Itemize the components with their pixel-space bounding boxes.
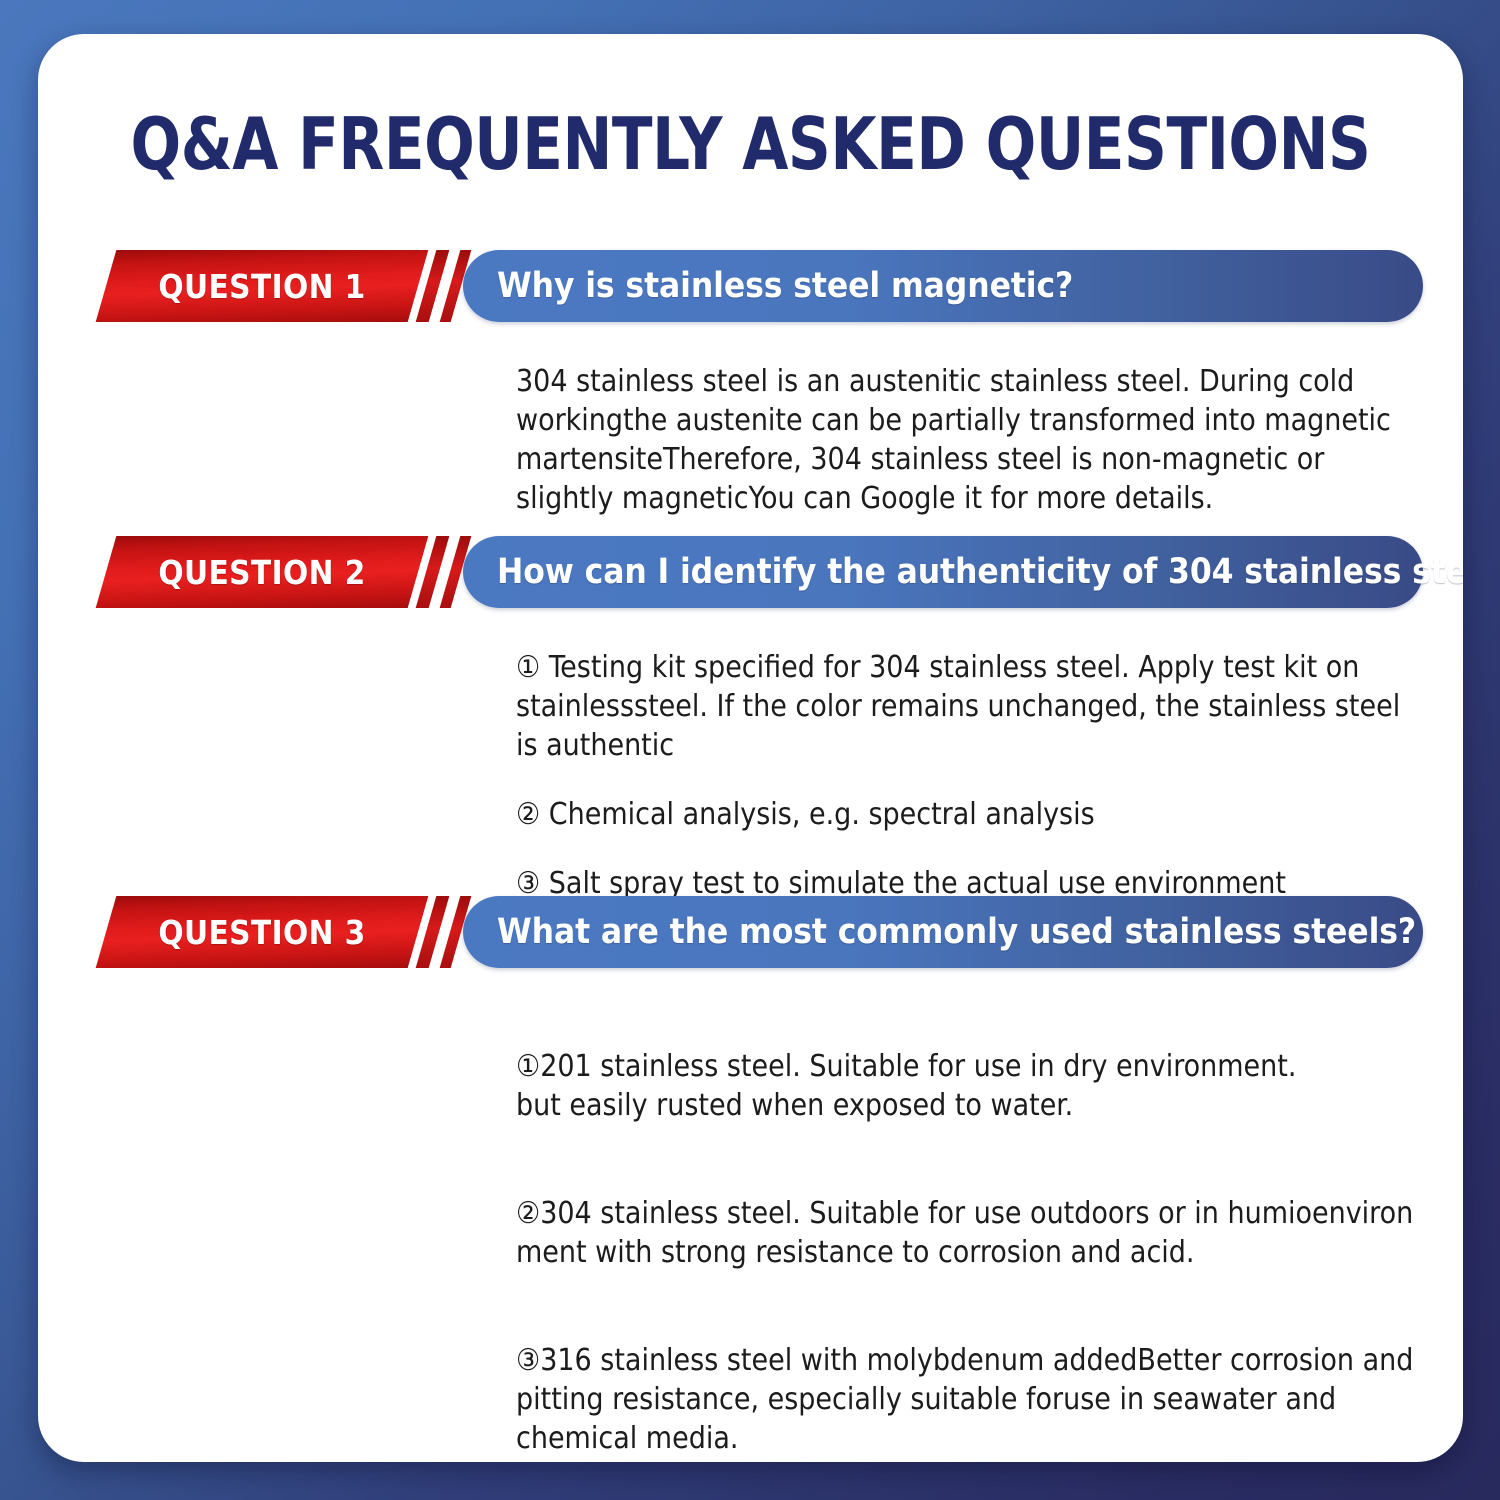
question-header-2: QUESTION 2 How can I identify the authen… [38,536,1463,608]
question-block-1: QUESTION 1 Why is stainless steel magnet… [38,250,1463,322]
question-block-2: QUESTION 2 How can I identify the authen… [38,536,1463,608]
question-heading-pill-1[interactable]: Why is stainless steel magnetic? [463,250,1423,322]
page-background: Q&A FREQUENTLY ASKED QUESTIONS QUESTION … [0,0,1500,1500]
answer-body-3: ①201 stainless steel. Suitable for use i… [516,1008,1426,1462]
faq-card: Q&A FREQUENTLY ASKED QUESTIONS QUESTION … [38,34,1463,1462]
question-heading-text-2: How can I identify the authenticity of 3… [463,552,1463,592]
question-heading-pill-3[interactable]: What are the most commonly used stainles… [463,896,1423,968]
question-tag-label-3: QUESTION 3 [106,896,418,968]
question-block-3: QUESTION 3 What are the most commonly us… [38,896,1463,968]
answer-paragraph: ① Testing kit specified for 304 stainles… [516,648,1426,765]
answer-body-2: ① Testing kit specified for 304 stainles… [516,648,1426,903]
question-tag-label-2: QUESTION 2 [106,536,418,608]
answer-paragraph: ③316 stainless steel with molybdenum add… [516,1341,1426,1458]
question-heading-text-3: What are the most commonly used stainles… [463,912,1450,952]
question-tag-label-1: QUESTION 1 [106,250,418,322]
question-header-3: QUESTION 3 What are the most commonly us… [38,896,1463,968]
page-title: Q&A FREQUENTLY ASKED QUESTIONS [95,108,1406,180]
answer-paragraph: ②304 stainless steel. Suitable for use o… [516,1194,1426,1272]
question-heading-text-1: Why is stainless steel magnetic? [463,266,1107,306]
answer-paragraph: ② Chemical analysis, e.g. spectral analy… [516,795,1426,834]
question-header-1: QUESTION 1 Why is stainless steel magnet… [38,250,1463,322]
answer-paragraph: ①201 stainless steel. Suitable for use i… [516,1047,1426,1125]
answer-paragraph: 304 stainless steel is an austenitic sta… [516,362,1426,518]
question-heading-pill-2[interactable]: How can I identify the authenticity of 3… [463,536,1423,608]
answer-body-1: 304 stainless steel is an austenitic sta… [516,362,1426,518]
